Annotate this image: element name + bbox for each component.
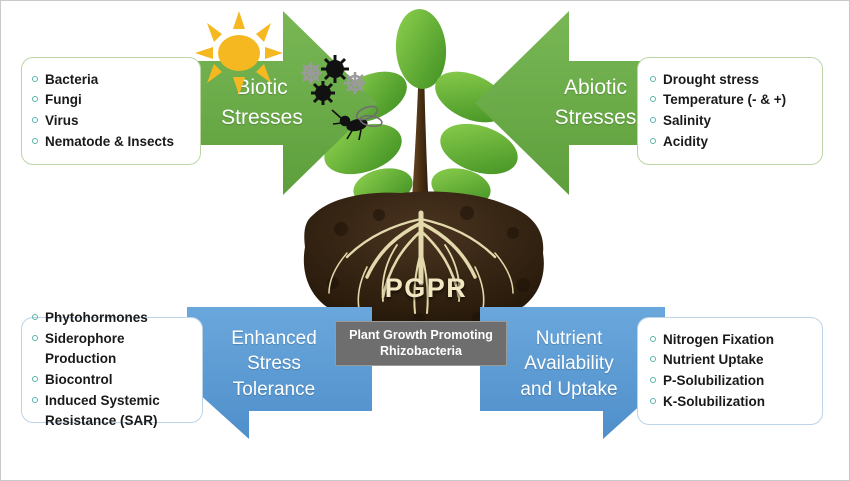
list-item: Induced Systemic Resistance (SAR) (32, 391, 196, 432)
insect-icon (331, 99, 387, 143)
list-item-label: Siderophore Production (45, 329, 196, 370)
pgpr-caption-text: Plant Growth Promoting Rhizobacteria (349, 328, 493, 359)
list-item: P-Solubilization (650, 371, 814, 392)
list-item-label: Acidity (663, 132, 708, 153)
stress-tolerance-panel: Phytohormones Siderophore Production Bio… (21, 317, 203, 423)
stress-tolerance-list: Phytohormones Siderophore Production Bio… (32, 308, 196, 431)
bullet-icon (650, 336, 656, 342)
list-item: Nematode & Insects (32, 132, 192, 153)
list-item-label: Biocontrol (45, 370, 113, 391)
nutrient-panel: Nitrogen Fixation Nutrient Uptake P-Solu… (637, 317, 823, 425)
list-item-label: Fungi (45, 90, 82, 111)
bullet-icon (650, 76, 656, 82)
bullet-icon (650, 138, 656, 144)
diagram-canvas: Biotic Stresses Abiotic Stresses Enhance… (0, 0, 850, 481)
list-item-label: Nutrient Uptake (663, 350, 764, 371)
list-item-label: Drought stress (663, 70, 759, 91)
bullet-icon (32, 138, 38, 144)
list-item: Siderophore Production (32, 329, 196, 370)
list-item: Fungi (32, 90, 192, 111)
abiotic-stress-list: Drought stress Temperature (- & +) Salin… (650, 70, 814, 152)
list-item-label: Induced Systemic Resistance (SAR) (45, 391, 160, 432)
bullet-icon (32, 335, 38, 341)
bullet-icon (650, 377, 656, 383)
list-item-label: Temperature (- & +) (663, 90, 786, 111)
list-item: Salinity (650, 111, 814, 132)
biotic-stress-list: Bacteria Fungi Virus Nematode & Insects (32, 70, 192, 152)
list-item: Bacteria (32, 70, 192, 91)
list-item-label: Virus (45, 111, 79, 132)
list-item-label: Bacteria (45, 70, 98, 91)
list-item: Phytohormones (32, 308, 196, 329)
list-item: K-Solubilization (650, 392, 814, 413)
abiotic-stress-panel: Drought stress Temperature (- & +) Salin… (637, 57, 823, 165)
bullet-icon (650, 117, 656, 123)
list-item-label: Nematode & Insects (45, 132, 174, 153)
pgpr-caption-box: Plant Growth Promoting Rhizobacteria (335, 321, 507, 366)
list-item-label: Nitrogen Fixation (663, 330, 774, 351)
list-item-label: Salinity (663, 111, 711, 132)
list-item-label: K-Solubilization (663, 392, 765, 413)
bullet-icon (650, 96, 656, 102)
list-item: Drought stress (650, 70, 814, 91)
biotic-stress-panel: Bacteria Fungi Virus Nematode & Insects (21, 57, 201, 165)
list-item: Temperature (- & +) (650, 90, 814, 111)
bullet-icon (32, 397, 38, 403)
bullet-icon (650, 398, 656, 404)
bullet-icon (32, 314, 38, 320)
nutrient-list: Nitrogen Fixation Nutrient Uptake P-Solu… (650, 330, 814, 412)
bullet-icon (32, 76, 38, 82)
list-item: Biocontrol (32, 370, 196, 391)
sun-icon (191, 9, 287, 95)
list-item: Acidity (650, 132, 814, 153)
list-item-label: P-Solubilization (663, 371, 764, 392)
list-item-label: Phytohormones (45, 308, 148, 329)
list-item: Virus (32, 111, 192, 132)
bullet-icon (32, 376, 38, 382)
list-item: Nutrient Uptake (650, 350, 814, 371)
bullet-icon (32, 96, 38, 102)
bullet-icon (650, 356, 656, 362)
bullet-icon (32, 117, 38, 123)
list-item: Nitrogen Fixation (650, 330, 814, 351)
